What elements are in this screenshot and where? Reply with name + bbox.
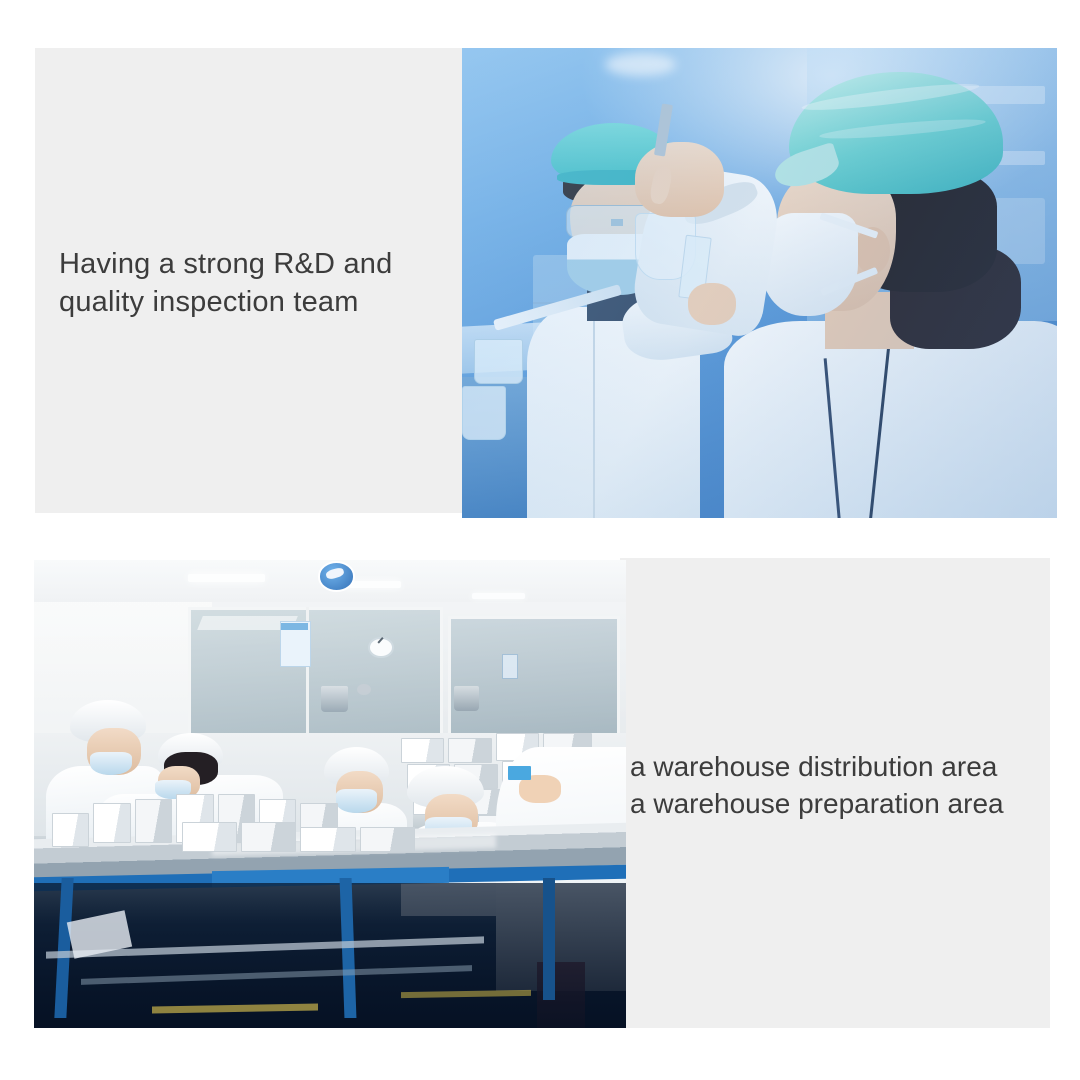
warehouse-scene [34, 560, 626, 1028]
photo-warehouse-packing [34, 560, 626, 1028]
section-rnd-quality: Having a strong R&D and quality inspecti… [35, 48, 1057, 518]
lab-scene [462, 48, 1057, 518]
poster-page: Having a strong R&D and quality inspecti… [0, 0, 1080, 1080]
photo-lab-team [462, 48, 1057, 518]
caption-rnd-quality: Having a strong R&D and quality inspecti… [59, 246, 459, 321]
caption-warehouse: a warehouse distribution area a warehous… [616, 748, 1040, 822]
section-warehouse: a warehouse distribution area a warehous… [34, 558, 1050, 1028]
